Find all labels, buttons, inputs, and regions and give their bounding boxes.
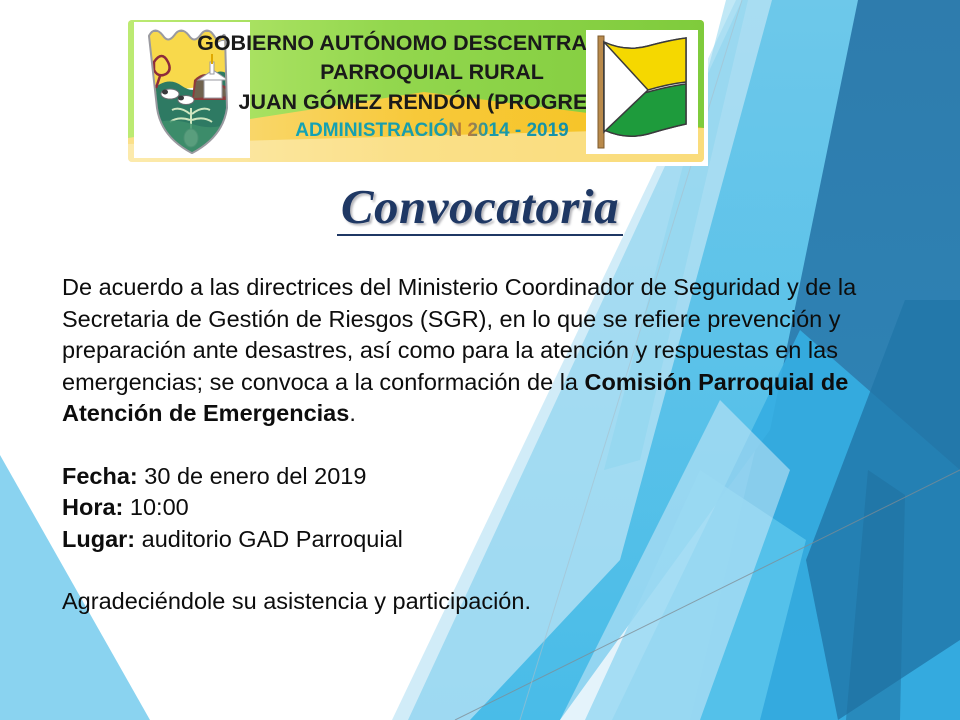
banner-line-3: JUAN GÓMEZ RENDÓN (PROGRESO) xyxy=(238,89,625,114)
body-text: De acuerdo a las directrices del Ministe… xyxy=(62,272,880,618)
detail-row-lugar: Lugar: auditorio GAD Parroquial xyxy=(62,524,880,556)
detail-row-hora: Hora: 10:00 xyxy=(62,492,880,524)
detail-label-fecha: Fecha: xyxy=(62,463,138,489)
paragraph-convocatoria: De acuerdo a las directrices del Ministe… xyxy=(62,272,880,430)
letterhead-banner: GOBIERNO AUTÓNOMO DESCENTRALIZADO PARROQ… xyxy=(124,16,708,166)
detail-value-lugar: auditorio GAD Parroquial xyxy=(135,526,403,552)
page-title: Convocatoria xyxy=(337,181,623,236)
paragraph-part-2: . xyxy=(349,400,356,426)
parish-flag-icon xyxy=(586,30,698,154)
paragraph-spacer-1 xyxy=(62,430,880,461)
detail-value-fecha: 30 de enero del 2019 xyxy=(138,463,367,489)
banner-line-4: ADMINISTRACIÓN 2014 - 2019 xyxy=(295,119,568,141)
detail-label-lugar: Lugar: xyxy=(62,526,135,552)
banner-line-2: PARROQUIAL RURAL xyxy=(320,60,544,84)
detail-label-hora: Hora: xyxy=(62,494,123,520)
detail-row-fecha: Fecha: 30 de enero del 2019 xyxy=(62,461,880,493)
paragraph-spacer-2 xyxy=(62,555,880,586)
slide-canvas: GOBIERNO AUTÓNOMO DESCENTRALIZADO PARROQ… xyxy=(0,0,960,720)
detail-value-hora: 10:00 xyxy=(123,494,188,520)
closing-line: Agradeciéndole su asistencia y participa… xyxy=(62,586,880,618)
title-container: Convocatoria xyxy=(0,181,960,236)
